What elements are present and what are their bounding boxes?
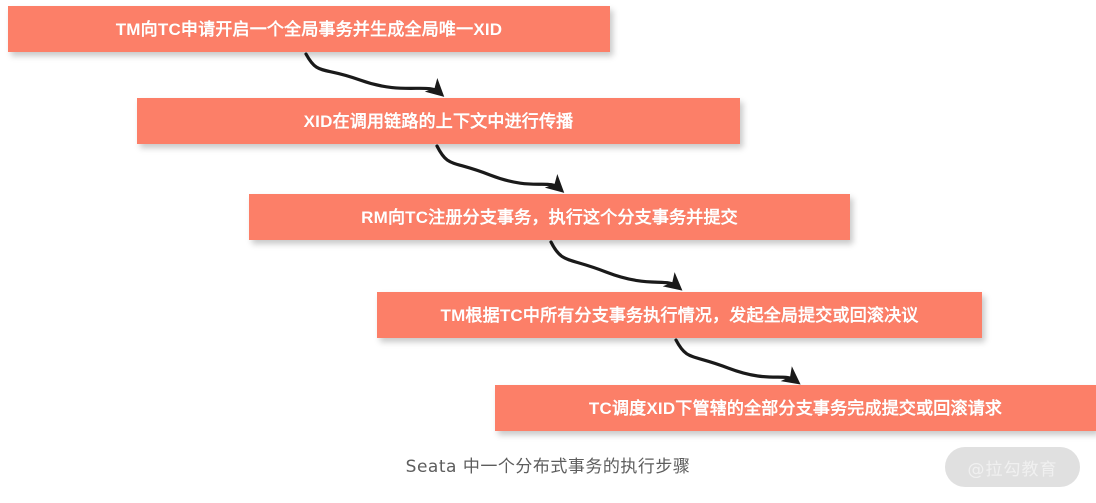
flow-step-label-2: XID在调用链路的上下文中进行传播 xyxy=(304,113,574,130)
flow-step-label-4: TM根据TC中所有分支事务执行情况，发起全局提交或回滚决议 xyxy=(440,307,918,324)
flow-step-label-3: RM向TC注册分支事务，执行这个分支事务并提交 xyxy=(361,209,738,226)
connector-arrow-1-2 xyxy=(306,54,440,93)
connector-arrow-2-3 xyxy=(437,146,560,189)
watermark-badge: @拉勾教育 xyxy=(945,447,1080,487)
flow-step-label-1: TM向TC申请开启一个全局事务并生成全局唯一XID xyxy=(116,21,503,38)
flow-step-box-3[interactable]: RM向TC注册分支事务，执行这个分支事务并提交 xyxy=(249,194,850,240)
flow-step-box-2[interactable]: XID在调用链路的上下文中进行传播 xyxy=(137,98,740,144)
flow-step-box-4[interactable]: TM根据TC中所有分支事务执行情况，发起全局提交或回滚决议 xyxy=(377,292,982,338)
connector-arrow-4-5 xyxy=(676,340,796,381)
flow-step-box-1[interactable]: TM向TC申请开启一个全局事务并生成全局唯一XID xyxy=(8,6,610,52)
flow-step-label-5: TC调度XID下管辖的全部分支事务完成提交或回滚请求 xyxy=(589,400,1002,417)
diagram-caption: Seata 中一个分布式事务的执行步骤 xyxy=(0,452,1096,477)
flow-step-box-5[interactable]: TC调度XID下管辖的全部分支事务完成提交或回滚请求 xyxy=(495,385,1096,431)
diagram-canvas: TM向TC申请开启一个全局事务并生成全局唯一XID XID在调用链路的上下文中进… xyxy=(0,0,1096,503)
connector-arrow-3-4 xyxy=(551,242,678,287)
